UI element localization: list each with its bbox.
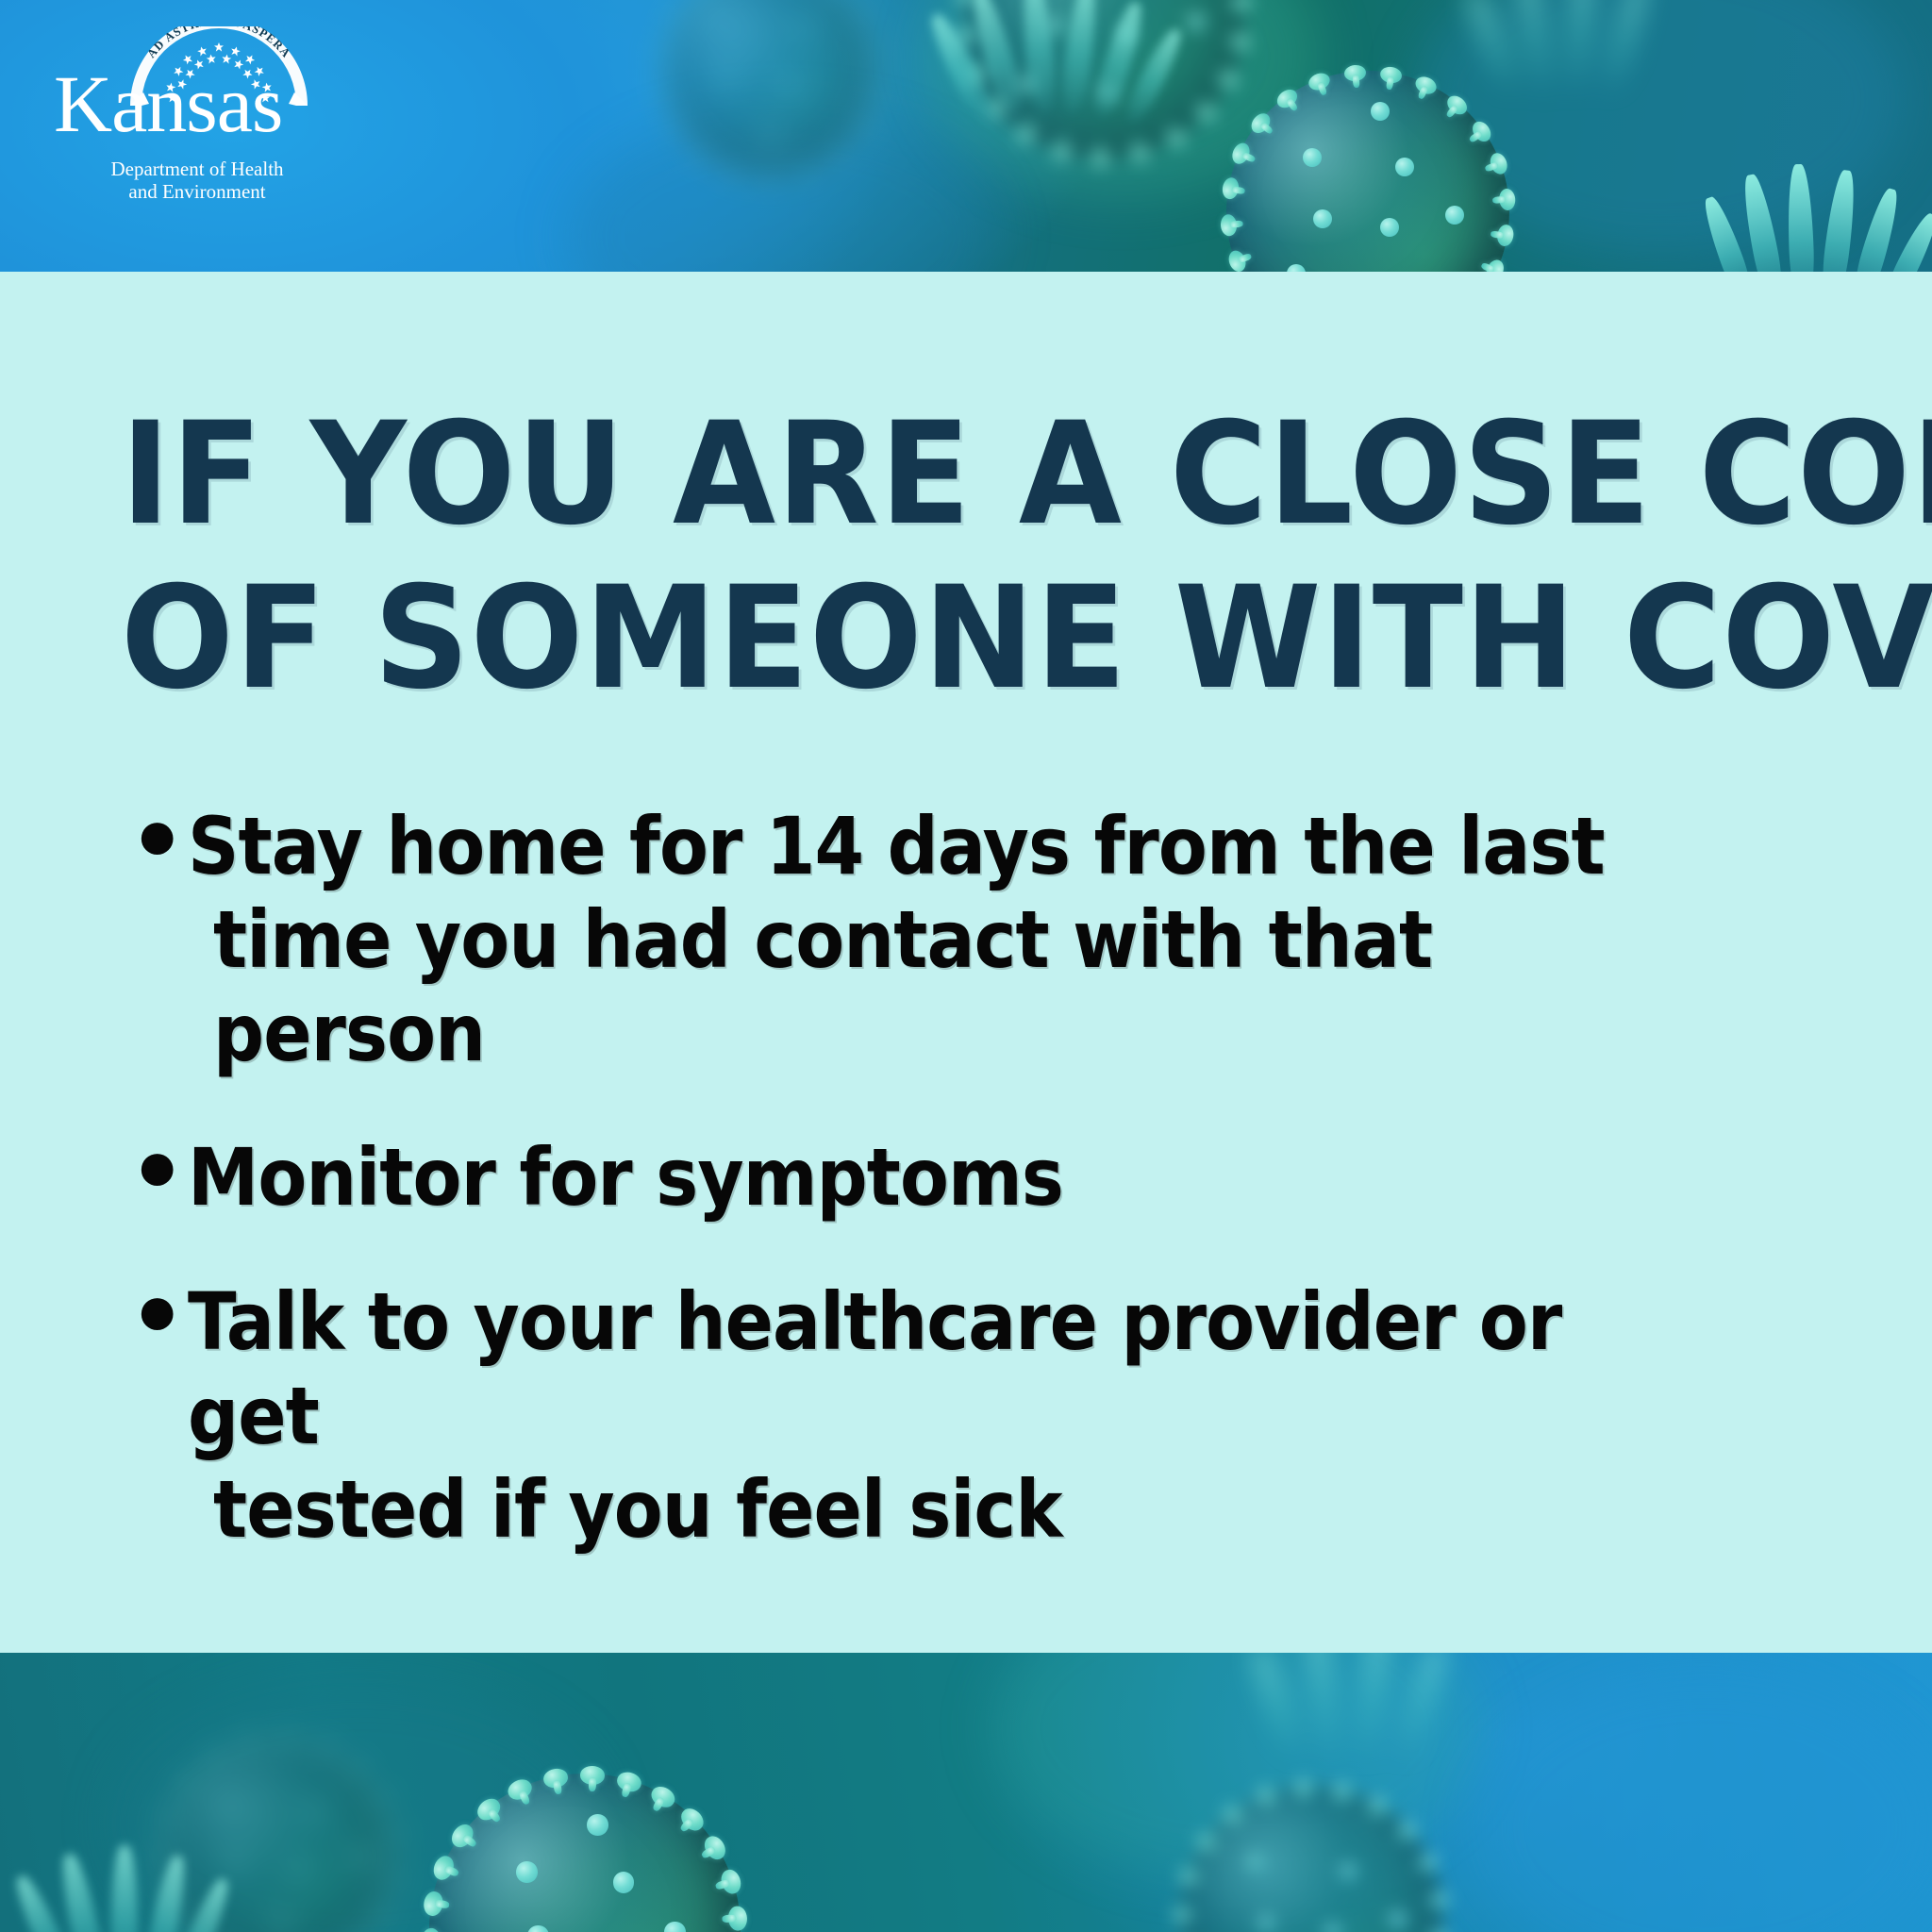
list-item: • Stay home for 14 days from the last ti…: [128, 800, 1845, 1080]
logo-department: Department of Health and Environment: [75, 158, 320, 203]
virus-spike-stalk: [767, 167, 772, 176]
bullet-marker-icon: •: [128, 1272, 186, 1362]
virus-particle-main: [429, 1774, 741, 1932]
virus-surface-dot: [613, 1872, 635, 1893]
virus-surface-dot: [217, 1795, 232, 1810]
virus-body: [1179, 1785, 1443, 1932]
virus-surface-dot: [1099, 84, 1117, 102]
virus-spike-stalk: [1302, 1788, 1307, 1799]
bottom-banner: [0, 1653, 1932, 1932]
virus-surface-dot: [227, 1854, 242, 1869]
virus-surface-dot: [1324, 1924, 1341, 1932]
bullet-2-line-1: Monitor for symptoms: [188, 1131, 1679, 1224]
logo-wordmark: Kansas: [54, 66, 337, 143]
logo-department-line1: Department of Health: [75, 158, 320, 181]
bullet-marker-icon: •: [128, 796, 186, 887]
content-panel: IF YOU ARE A CLOSE CONTACT OF SOMEONE WI…: [0, 272, 1932, 1653]
virus-surface-dot: [1258, 1915, 1275, 1932]
virus-spike-stalk: [163, 1853, 174, 1857]
virus-surface-dot: [354, 1851, 369, 1866]
virus-surface-dot: [1341, 1863, 1357, 1880]
virus-surface-dot: [1018, 75, 1036, 93]
bullet-3-line-1: Talk to your healthcare provider or get: [188, 1275, 1679, 1462]
bullet-3-line-2: tested if you feel sick: [188, 1463, 1679, 1557]
banner-blob: [1472, 1672, 1932, 1932]
bullet-text: Talk to your healthcare provider or get …: [188, 1275, 1679, 1556]
virus-particle-main: [1226, 71, 1509, 272]
virus-surface-dot: [1445, 206, 1464, 225]
virus-surface-dot: [783, 78, 797, 92]
virus-surface-dot: [798, 20, 812, 34]
virus-surface-dot: [1247, 1854, 1264, 1871]
bullet-list: • Stay home for 14 days from the last ti…: [128, 800, 1845, 1607]
virus-body: [1226, 71, 1509, 272]
bullet-1-line-2: time you had contact with that person: [188, 893, 1679, 1080]
bullet-marker-icon: •: [128, 1127, 186, 1218]
bullet-text: Monitor for symptoms: [188, 1131, 1679, 1224]
virus-spike-stalk: [1352, 75, 1359, 88]
virus-filament-cluster: [1472, 0, 1689, 142]
virus-surface-dot: [708, 10, 722, 25]
bullet-text: Stay home for 14 days from the last time…: [188, 800, 1679, 1080]
virus-spike-stalk: [1097, 145, 1104, 158]
virus-particle: [160, 1738, 396, 1932]
kdhe-logo: AD ASTRA PER ASPERA: [54, 26, 337, 187]
logo-department-line2: and Environment: [75, 181, 320, 204]
virus-surface-dot: [1303, 148, 1322, 167]
virus-particle: [1179, 1785, 1443, 1932]
headline-line-2: OF SOMEONE WITH COVID-19:: [121, 557, 1717, 721]
headline-line-1: IF YOU ARE A CLOSE CONTACT: [121, 392, 1717, 557]
virus-filament-cluster: [1717, 160, 1932, 272]
virus-surface-dot: [516, 1861, 538, 1883]
virus-particle: [962, 0, 1245, 160]
virus-surface-dot: [1118, 25, 1136, 43]
virus-surface-dot: [1047, 17, 1065, 35]
covid-close-contact-poster: AD ASTRA PER ASPERA: [0, 0, 1932, 1932]
virus-spike-stalk: [588, 1777, 595, 1792]
virus-surface-dot: [765, 131, 779, 145]
virus-surface-dot: [307, 1805, 322, 1820]
virus-surface-dot: [587, 1814, 608, 1836]
headline: IF YOU ARE A CLOSE CONTACT OF SOMEONE WI…: [121, 392, 1819, 721]
virus-surface-dot: [275, 1914, 290, 1929]
top-banner: AD ASTRA PER ASPERA: [0, 0, 1932, 272]
bullet-1-line-1: Stay home for 14 days from the last: [188, 800, 1679, 893]
virus-surface-dot: [1390, 1911, 1407, 1928]
virus-particle: [660, 0, 877, 179]
list-item: • Talk to your healthcare provider or ge…: [128, 1275, 1845, 1556]
list-item: • Monitor for symptoms: [128, 1131, 1845, 1224]
virus-surface-dot: [1188, 13, 1206, 31]
virus-surface-dot: [1380, 218, 1399, 237]
virus-body: [429, 1774, 741, 1932]
